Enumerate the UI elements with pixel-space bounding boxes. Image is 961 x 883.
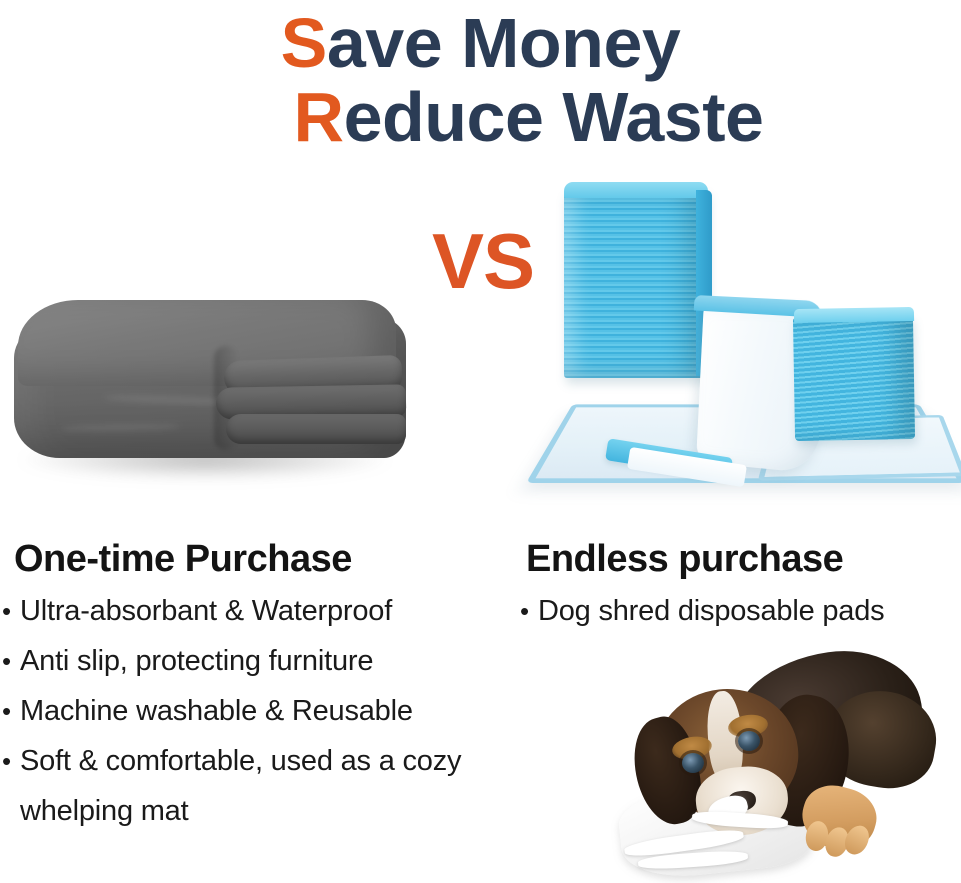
headline-line-reduce-waste: Reduce Waste xyxy=(0,80,961,154)
comparison-image-stage xyxy=(0,150,961,535)
short-pad-stack-top xyxy=(794,307,914,323)
list-item: Ultra-absorbant & Waterproof xyxy=(0,586,500,636)
headline-rest-reduce-waste: educe Waste xyxy=(344,78,764,156)
list-item: Soft & comfortable, used as a cozy whelp… xyxy=(0,736,500,836)
left-comparison-column: One-time Purchase Ultra-absorbant & Wate… xyxy=(0,536,500,836)
folded-grey-fleece-blanket-image xyxy=(0,290,420,520)
disposable-puppy-pads-image xyxy=(540,180,961,520)
left-column-heading: One-time Purchase xyxy=(0,536,500,582)
list-item: Anti slip, protecting furniture xyxy=(0,636,500,686)
tall-pad-stack xyxy=(564,188,708,378)
short-pad-stack xyxy=(793,315,915,441)
list-item: Machine washable & Reusable xyxy=(0,686,500,736)
blanket-fold-layer xyxy=(226,414,406,444)
right-column-bullet-list: Dog shred disposable pads xyxy=(516,586,961,636)
beagle-puppy-chewing-shredded-pad-image xyxy=(620,645,961,875)
right-column-heading: Endless purchase xyxy=(516,536,961,582)
headline-initial-r: R xyxy=(294,78,344,156)
right-comparison-column: Endless purchase Dog shred disposable pa… xyxy=(516,536,961,636)
headline-initial-s: S xyxy=(281,4,327,82)
left-column-bullet-list: Ultra-absorbant & Waterproof Anti slip, … xyxy=(0,586,500,836)
headline-line-save-money: Save Money xyxy=(0,0,961,80)
dog-eye-right xyxy=(738,731,760,751)
list-item: Dog shred disposable pads xyxy=(516,586,961,636)
dog-eye-left xyxy=(682,753,704,773)
blanket-crease xyxy=(60,423,180,432)
headline-block: Save Money Reduce Waste xyxy=(0,0,961,160)
headline-rest-save-money: ave Money xyxy=(327,4,680,82)
tall-pad-stack-top xyxy=(564,182,708,198)
